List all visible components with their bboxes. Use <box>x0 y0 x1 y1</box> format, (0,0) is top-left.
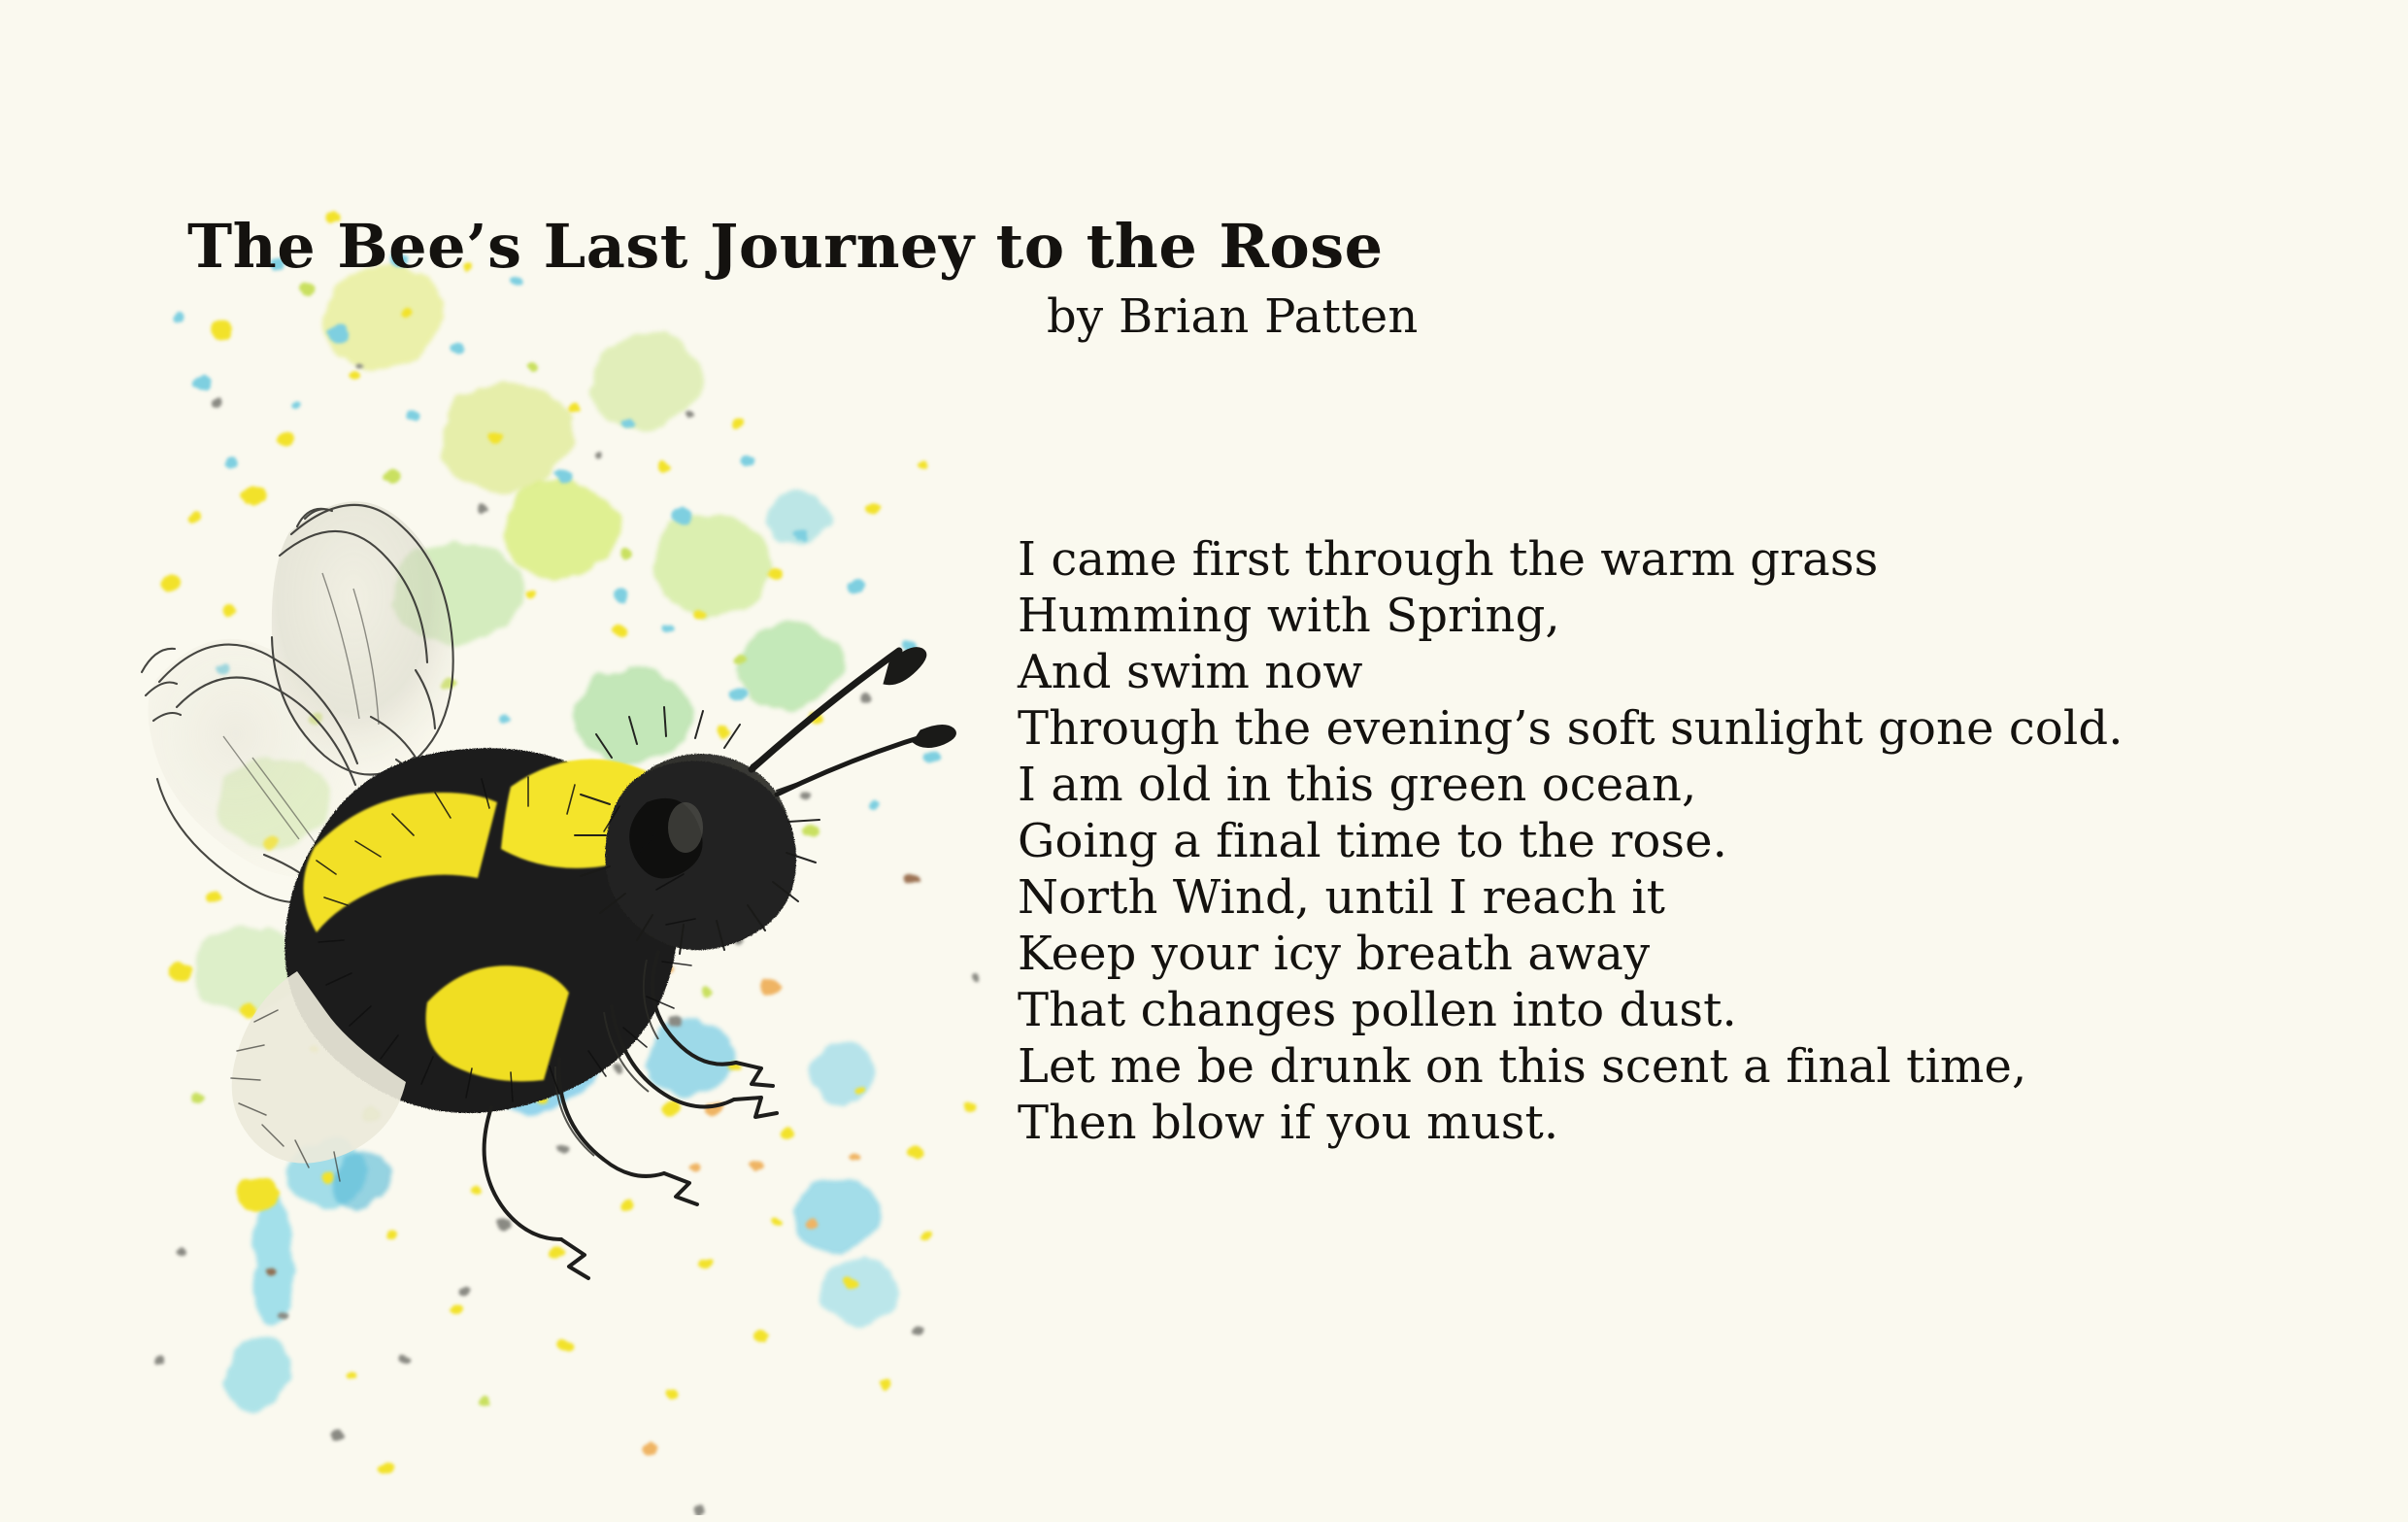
poem-line: Keep your icy breath away <box>1018 926 2124 982</box>
poem-line: I am old in this green ocean, <box>1018 757 2124 813</box>
poem-page: The Bee’s Last Journey to the Rose by Br… <box>0 0 2408 1522</box>
poem-line: Going a final time to the rose. <box>1018 813 2124 869</box>
poem-line: And swim now <box>1018 644 2124 700</box>
poem-line: I came first through the warm grass <box>1018 531 2124 588</box>
poem-title: The Bee’s Last Journey to the Rose <box>187 214 1384 280</box>
poem-line: Through the evening’s soft sunlight gone… <box>1018 700 2124 757</box>
poem-byline: by Brian Patten <box>1047 291 1419 343</box>
poem-line: North Wind, until I reach it <box>1018 869 2124 926</box>
poem-line: Humming with Spring, <box>1018 588 2124 644</box>
poem-line: Let me be drunk on this scent a final ti… <box>1018 1038 2124 1095</box>
poem-line: That changes pollen into dust. <box>1018 982 2124 1038</box>
bee-illustration <box>78 175 1049 1515</box>
poem-body: I came first through the warm grass Humm… <box>1018 531 2124 1151</box>
poem-line: Then blow if you must. <box>1018 1095 2124 1151</box>
